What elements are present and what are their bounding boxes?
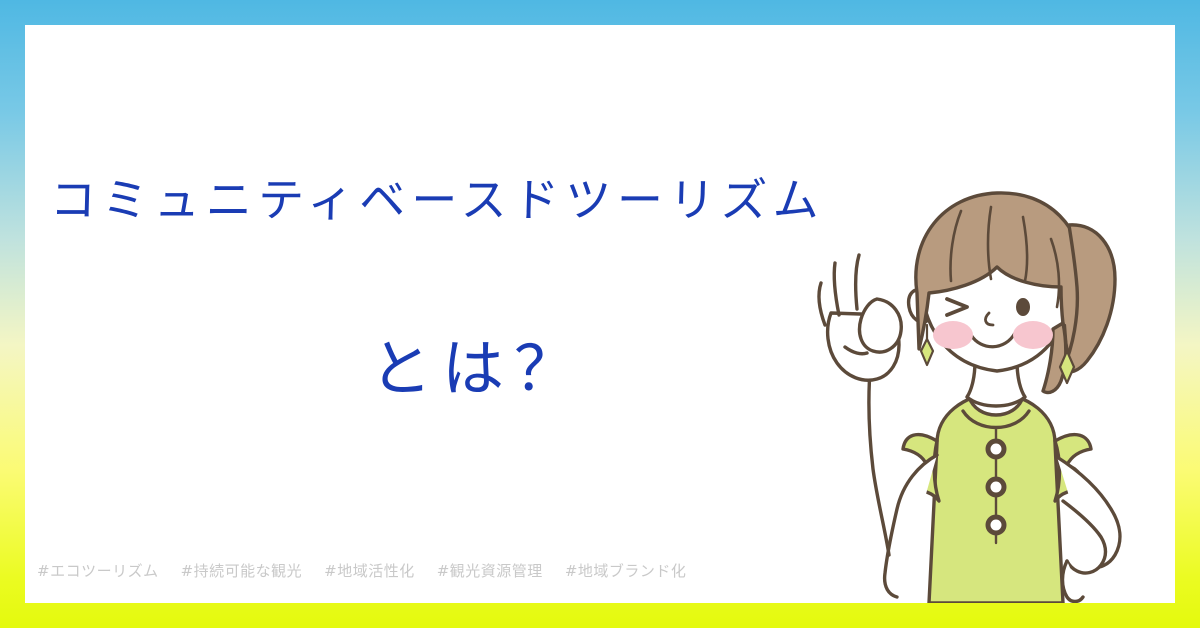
ok-ring <box>860 299 902 352</box>
hashtag-list: #エコツーリズム #持続可能な観光 #地域活性化 #観光資源管理 #地域ブランド… <box>37 560 686 581</box>
hashtag-item[interactable]: #持続可能な観光 <box>181 560 303 581</box>
eye-open <box>1016 298 1030 316</box>
hashtag-item[interactable]: #地域活性化 <box>324 560 415 581</box>
hashtag-item[interactable]: #エコツーリズム <box>37 560 159 581</box>
blush-right <box>1013 321 1053 349</box>
illustration-svg <box>811 183 1175 603</box>
page-title: コミュニティベースドツーリズム <box>49 173 930 228</box>
finger-ring <box>856 255 859 309</box>
woman-ok-gesture-illustration <box>811 183 1175 603</box>
finger-middle <box>834 263 839 315</box>
hashtag-item[interactable]: #地域ブランド化 <box>565 560 687 581</box>
button <box>988 441 1004 457</box>
button <box>988 517 1004 533</box>
hashtag-item[interactable]: #観光資源管理 <box>437 560 543 581</box>
blouse-buttons <box>988 441 1004 533</box>
button <box>988 479 1004 495</box>
ok-hand <box>819 255 901 380</box>
content-panel: コミュニティベースドツーリズム とは？ #エコツーリズム #持続可能な観光 #地… <box>25 25 1175 603</box>
banner-card: コミュニティベースドツーリズム とは？ #エコツーリズム #持続可能な観光 #地… <box>0 0 1200 628</box>
page-subtitle: とは？ <box>370 335 586 403</box>
finger-pinky <box>819 283 825 325</box>
raised-forearm <box>869 359 889 555</box>
blush-left <box>933 321 973 349</box>
